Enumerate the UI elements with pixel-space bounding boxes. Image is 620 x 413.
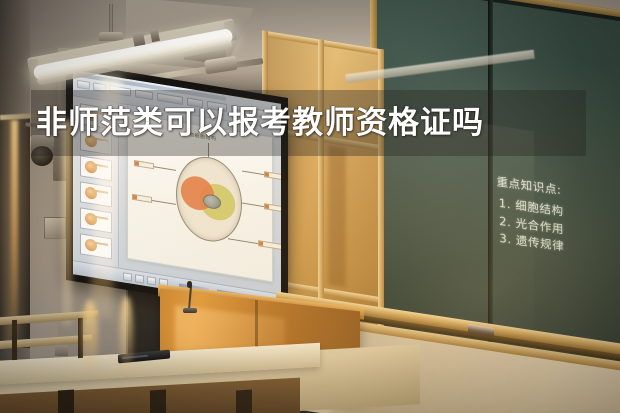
wall-socket-icon[interactable]	[55, 345, 68, 356]
leader-line	[228, 238, 258, 244]
leader-line	[242, 171, 264, 176]
ribbon-tool-4[interactable]	[135, 89, 153, 100]
ribbon-tool-1[interactable]	[77, 80, 90, 90]
caption-title: 非师范类可以报考教师资格证吗	[36, 104, 596, 142]
slide-label	[134, 160, 154, 169]
leader-line	[154, 166, 176, 171]
step-leg	[12, 320, 17, 360]
wall-sun-patch-2	[120, 296, 133, 374]
panel-shadow-b	[328, 145, 346, 288]
cell-diagram-icon	[176, 152, 242, 247]
status-button[interactable]	[147, 276, 156, 285]
slide-label	[264, 171, 281, 181]
stage-gap	[150, 390, 166, 413]
microphone-base	[183, 308, 197, 313]
status-button[interactable]	[123, 272, 132, 281]
leader-line	[208, 143, 209, 157]
stage-gap	[58, 390, 74, 413]
sunlight-streak-secondary	[62, 120, 72, 325]
wall-sun-patch-1	[82, 300, 98, 370]
curtain-light-gap	[11, 120, 18, 335]
stage-gap	[236, 390, 252, 413]
slide-label	[264, 203, 281, 213]
status-button[interactable]	[135, 274, 144, 283]
microphone-icon	[187, 281, 192, 288]
leader-line	[242, 203, 264, 208]
screenshot-root: 重点知识点: 1. 细胞结构 2. 光合作用 3. 遗传规律	[0, 0, 620, 413]
leader-line	[152, 200, 176, 205]
slide-label	[258, 240, 281, 251]
light-bracket	[132, 32, 145, 47]
security-camera-icon	[31, 146, 53, 166]
chalk-notes: 重点知识点: 1. 细胞结构 2. 光合作用 3. 遗传规律	[496, 173, 564, 256]
slide-label	[132, 194, 152, 203]
nucleus-icon	[203, 193, 221, 210]
